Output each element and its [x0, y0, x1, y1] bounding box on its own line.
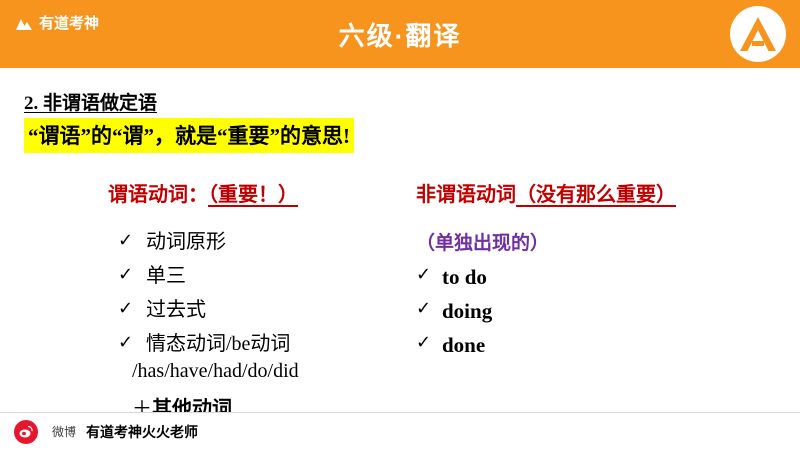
list-item-label: 动词原形: [146, 228, 226, 256]
weibo-icon[interactable]: [14, 420, 38, 444]
right-heading-underlined: （没有那么重要）: [516, 184, 676, 206]
list-item: ✓ 情态动词/be动词: [118, 330, 418, 358]
list-item: ✓ done: [416, 330, 736, 360]
highlight-statement: “谓语”的“谓”，就是“重要”的意思!: [24, 118, 354, 153]
left-continuation-line-1: /has/have/had/do/did: [132, 360, 299, 383]
list-item-label: done: [442, 330, 485, 360]
check-mark-icon: ✓: [118, 296, 134, 322]
left-heading-underlined: （重要！）: [208, 184, 298, 206]
list-item: ✓ doing: [416, 296, 736, 326]
check-mark-icon: ✓: [118, 262, 134, 288]
footer-label: 微博: [52, 423, 76, 440]
check-mark-icon: ✓: [416, 262, 432, 288]
list-item: ✓ 过去式: [118, 296, 418, 324]
section-title: 2. 非谓语做定语: [24, 88, 157, 115]
page-footer: 微博 有道考神火火老师: [0, 413, 800, 450]
list-item-label: 单三: [146, 262, 186, 290]
left-heading-plain: 谓语动词：: [108, 184, 208, 206]
footer-account-name: 有道考神火火老师: [86, 422, 198, 442]
right-heading-plain: 非谓语动词: [416, 184, 516, 206]
left-list: ✓ 动词原形 ✓ 单三 ✓ 过去式 ✓ 情态动词/be动词: [118, 228, 418, 364]
list-item-label: 过去式: [146, 296, 206, 324]
page-title: 六级·翻译: [0, 0, 800, 68]
check-mark-icon: ✓: [416, 330, 432, 356]
right-column-heading: 非谓语动词（没有那么重要）: [416, 178, 676, 207]
list-item: ✓ 动词原形: [118, 228, 418, 256]
triangle-a-logo-icon: [730, 6, 786, 62]
list-item: ✓ 单三: [118, 262, 418, 290]
page-header: 有道考神 六级·翻译: [0, 0, 800, 68]
right-list: ✓ to do ✓ doing ✓ done: [416, 262, 736, 364]
list-item-label: to do: [442, 262, 487, 292]
check-mark-icon: ✓: [118, 228, 134, 254]
list-item: ✓ to do: [416, 262, 736, 292]
list-item-label: doing: [442, 296, 492, 326]
right-column-note: （单独出现的）: [416, 228, 549, 255]
left-column-heading: 谓语动词：（重要！）: [108, 178, 298, 207]
check-mark-icon: ✓: [118, 330, 134, 356]
list-item-label: 情态动词/be动词: [146, 330, 290, 358]
check-mark-icon: ✓: [416, 296, 432, 322]
